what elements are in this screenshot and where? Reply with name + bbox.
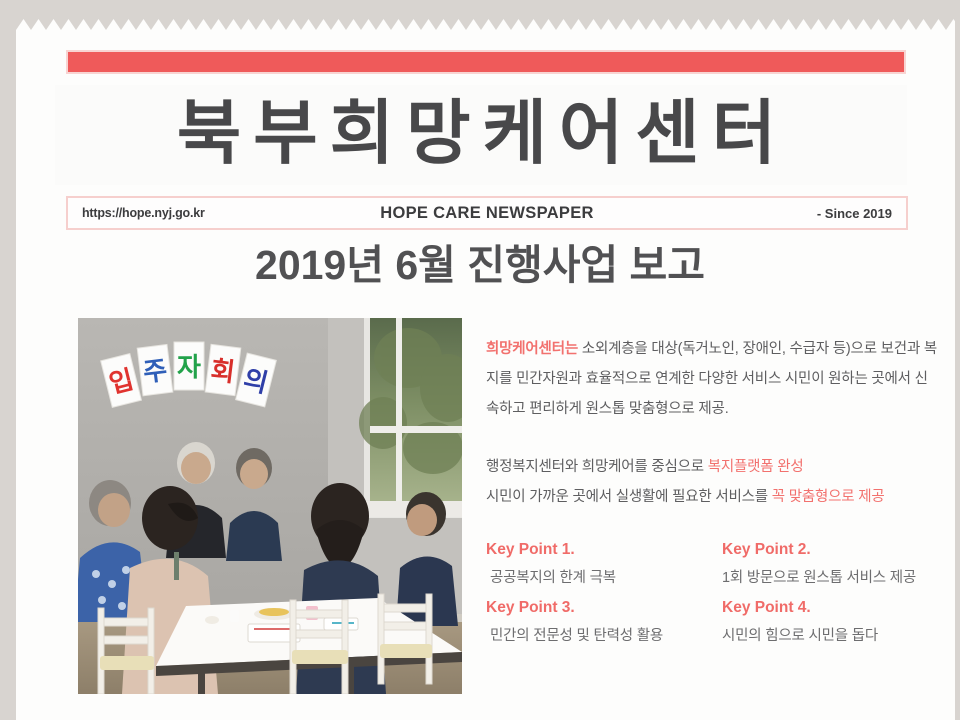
paragraph-2-line1-accent: 복지플랫폼 완성 [708, 459, 804, 475]
key-point-3-body: 민간의 전문성 및 탄력성 활용 [486, 622, 718, 651]
since-label: - Since 2019 [817, 206, 892, 221]
key-point-2-body: 1회 방문으로 원스톱 서비스 제공 [718, 564, 938, 593]
key-point-4-title: Key Point 4. [718, 593, 938, 622]
masthead-red-rule [66, 50, 906, 74]
key-points-grid: Key Point 1. Key Point 2. 공공복지의 한계 극복 1회… [486, 535, 938, 651]
article-paragraph-1: 희망케어센터는 소외계층을 대상(독거노인, 장애인, 수급자 등)으로 보건과… [486, 334, 938, 424]
article-paragraph-2: 행정복지센터와 희망케어를 중심으로 복지플랫폼 완성시민이 가까운 곳에서 실… [486, 452, 938, 512]
poster-page: 북부희망케어센터 https://hope.nyj.go.kr HOPE CAR… [0, 0, 960, 720]
page-title: 북부희망케어센터 [60, 83, 905, 183]
info-strip: https://hope.nyj.go.kr HOPE CARE NEWSPAP… [66, 196, 908, 230]
key-point-2-title: Key Point 2. [718, 535, 938, 564]
paragraph-2-line2-accent: 꼭 맞춤형으로 제공 [772, 489, 885, 505]
paragraph-2-line1-plain: 행정복지센터와 희망케어를 중심으로 [486, 459, 708, 475]
photo-illustration: 입 주 자 회 의 [78, 318, 462, 694]
accent-lead-text: 희망케어센터는 [486, 341, 578, 357]
report-headline: 2019년 6월 진행사업 보고 [0, 243, 960, 288]
key-point-1-title: Key Point 1. [486, 535, 718, 564]
svg-text:회: 회 [209, 355, 236, 388]
key-point-1-body: 공공복지의 한계 극복 [486, 564, 718, 593]
key-point-3-title: Key Point 3. [486, 593, 718, 622]
torn-edge-decoration [16, 18, 955, 30]
svg-text:자: 자 [177, 352, 201, 382]
paragraph-2-line2-plain: 시민이 가까운 곳에서 실생활에 필요한 서비스를 [486, 489, 772, 505]
newspaper-name: HOPE CARE NEWSPAPER [68, 204, 906, 223]
meeting-photo: 입 주 자 회 의 [78, 318, 462, 694]
article-body: 희망케어센터는 소외계층을 대상(독거노인, 장애인, 수급자 등)으로 보건과… [486, 334, 938, 512]
key-point-4-body: 시민의 힘으로 시민을 돕다 [718, 622, 938, 651]
svg-text:주: 주 [141, 355, 168, 388]
